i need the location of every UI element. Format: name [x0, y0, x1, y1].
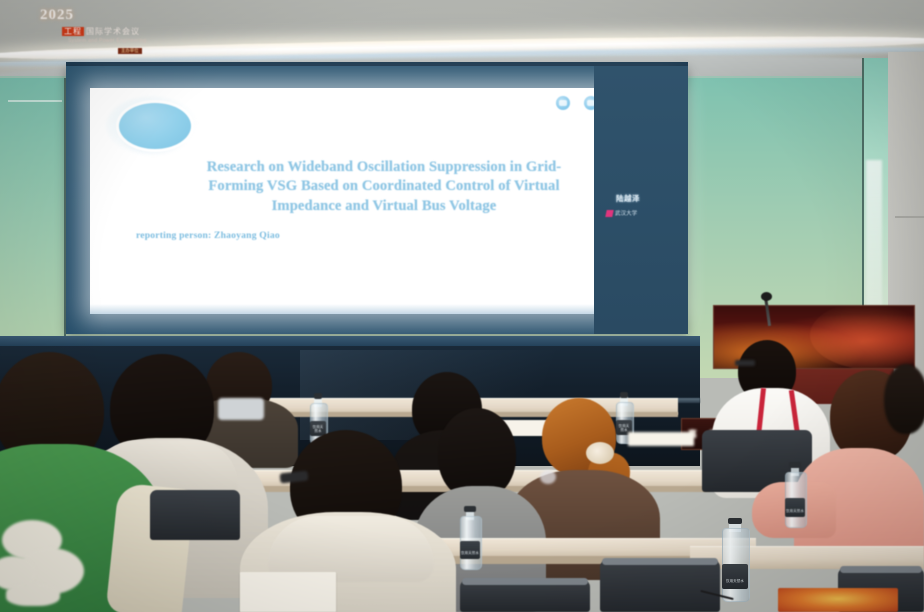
document-sheet: [628, 432, 694, 446]
slide-presenter: reporting person: Zhaoyang Qiao: [136, 230, 280, 241]
document-sheet: [240, 572, 336, 612]
banner-chinese-rest: 国际学术会议: [86, 27, 140, 36]
slide-title-line-3: Impedance and Virtual Bus Voltage: [124, 197, 644, 216]
water-bottle[interactable]: 饮用天然水: [785, 462, 805, 526]
slide-title-line-2: Forming VSG Based on Coordinated Control…: [124, 177, 644, 196]
collar: [218, 398, 264, 420]
banner-badge: 主办单位: [118, 48, 142, 54]
bottle-label-text: 饮用天然水: [461, 551, 479, 555]
chair-rim: [462, 578, 588, 585]
banner-english-subtitle: System and Power Engineering: [68, 38, 146, 44]
chair-rim: [840, 566, 922, 573]
bottle-label-text: 饮用天然水: [723, 579, 747, 583]
hair-scrunchie: [586, 442, 614, 464]
lower-board-top-rail: [0, 336, 700, 346]
slide-title: Research on Wideband Oscillation Suppres…: [124, 158, 644, 216]
bottle-cap: [314, 393, 323, 399]
blue-ellipse-logo: [116, 100, 194, 152]
wall-panel-left: [0, 78, 66, 378]
bottle-label: [722, 564, 748, 589]
earring-icon: [540, 470, 556, 484]
microphone-head-icon: [761, 292, 772, 301]
projection-screen: Research on Wideband Oscillation Suppres…: [90, 88, 676, 314]
conference-room-photo: Research on Wideband Oscillation Suppres…: [0, 0, 924, 612]
head: [884, 364, 924, 434]
chair-rim: [602, 558, 718, 565]
chair: [600, 560, 720, 612]
banner-glow: [810, 305, 915, 369]
banner-chinese-title: 工程国际学术会议: [62, 26, 140, 37]
water-bottle[interactable]: 饮用天然水: [722, 518, 748, 600]
slide-logo: [104, 94, 200, 160]
logo-mark-icon: [605, 210, 613, 217]
glasses-icon: [735, 360, 755, 366]
water-bottle[interactable]: 饮用天然水: [460, 506, 480, 568]
banner-year: 2025: [40, 7, 74, 24]
bottle-cap: [464, 506, 475, 512]
side-display-logo: 武汉大学: [606, 209, 637, 217]
screen-bottom-shade: [90, 304, 676, 314]
chair: [150, 490, 240, 540]
slide-title-line-1: Research on Wideband Oscillation Suppres…: [124, 158, 644, 177]
wall-panel-seam: [8, 100, 62, 102]
bottle-label-text: 饮用天然水: [786, 509, 804, 513]
wall-right-seam: [895, 216, 924, 218]
bottle-cap: [728, 518, 743, 524]
bottle-cap: [789, 462, 800, 468]
side-display-panel: [594, 66, 688, 334]
side-speaker-name: 陆越泽: [616, 193, 640, 204]
cloud-graphic: [6, 584, 60, 606]
bottle-cap: [620, 392, 629, 398]
bottle-label-text: 饮用天然水: [311, 425, 325, 434]
cloud-icon: [556, 96, 570, 110]
bottle-label-text: 饮用天然水: [617, 424, 631, 433]
banner-highlight: 工程: [62, 27, 84, 36]
bottle-label: [785, 498, 805, 517]
side-org-label: 武汉大学: [615, 209, 637, 217]
printed-program: [778, 588, 898, 612]
